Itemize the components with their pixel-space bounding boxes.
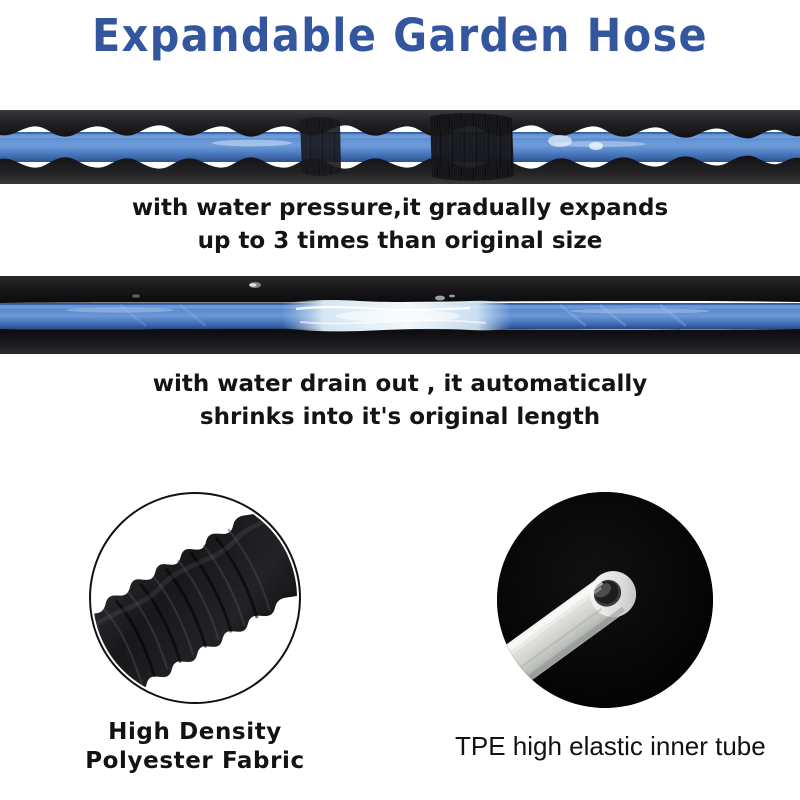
caption-line: shrinks into it's original length — [0, 401, 800, 434]
page-title: Expandable Garden Hose — [32, 8, 768, 64]
caption-line: High Density — [45, 718, 345, 747]
caption-line: up to 3 times than original size — [0, 225, 800, 258]
polyester-fabric-closeup — [89, 492, 301, 704]
caption-line: TPE high elastic inner tube — [455, 730, 755, 762]
caption-line: with water pressure,it gradually expands — [0, 192, 800, 225]
feature-high-density-polyester-fabric: High Density Polyester Fabric — [45, 492, 345, 776]
product-infographic: Expandable Garden Hose — [0, 0, 800, 800]
feature-caption-tpe-inner-tube: TPE high elastic inner tube — [455, 730, 755, 762]
caption-line: Polyester Fabric — [45, 747, 345, 776]
contracted-hose-caption: with water drain out , it automatically … — [0, 368, 800, 434]
expanded-hose-caption: with water pressure,it gradually expands… — [0, 192, 800, 258]
feature-tpe-high-elastic-inner-tube: TPE high elastic inner tube — [455, 492, 755, 762]
tpe-inner-tube-closeup — [497, 492, 713, 708]
caption-line: with water drain out , it automatically — [0, 368, 800, 401]
expanded-hose-photo — [0, 110, 800, 184]
contracted-hose-photo — [0, 276, 800, 354]
feature-caption-polyester-fabric: High Density Polyester Fabric — [45, 718, 345, 776]
